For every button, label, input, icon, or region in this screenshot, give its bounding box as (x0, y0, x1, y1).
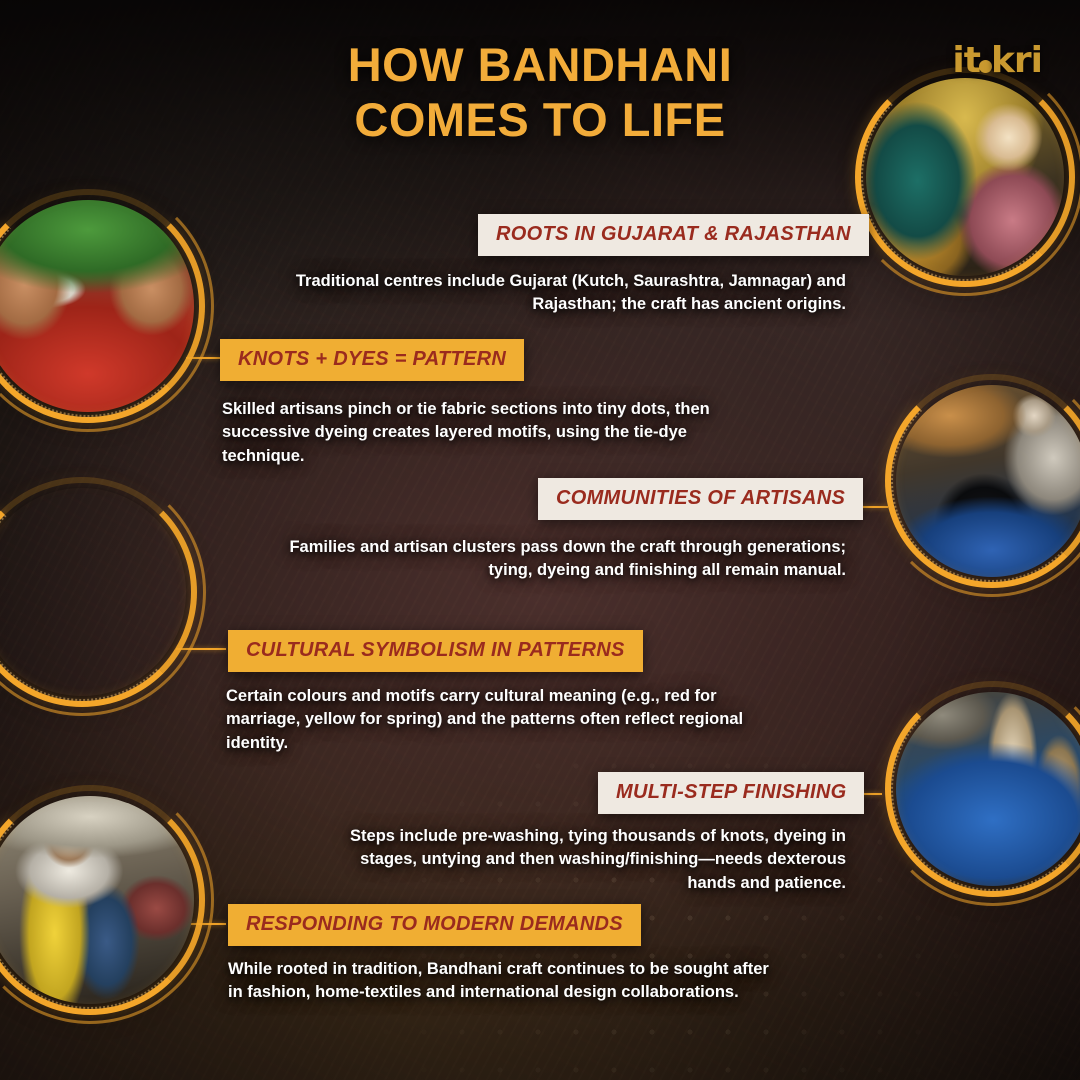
logo-text-after: kri (991, 40, 1042, 81)
banner-modern-label: RESPONDING TO MODERN DEMANDS (246, 913, 623, 935)
body-text-communities: Families and artisan clusters pass down … (246, 536, 846, 583)
body-text-knots: Skilled artisans pinch or tie fabric sec… (222, 398, 756, 468)
banner-communities-label: COMMUNITIES OF ARTISANS (556, 487, 845, 509)
banner-finishing[interactable]: MULTI-STEP FINISHING (598, 772, 864, 814)
body-text-modern: While rooted in tradition, Bandhani craf… (228, 958, 788, 1005)
banner-symbolism[interactable]: CULTURAL SYMBOLISM IN PATTERNS (228, 630, 643, 672)
banner-communities[interactable]: COMMUNITIES OF ARTISANS (538, 478, 863, 520)
body-text-roots: Traditional centres include Gujarat (Kut… (270, 270, 846, 317)
page-title-line-2: COMES TO LIFE (0, 93, 1080, 148)
page-title-line-1: HOW BANDHANI (348, 38, 733, 91)
logo-text-before: it (952, 40, 980, 81)
itokri-logo[interactable]: itkri (952, 40, 1042, 81)
photo-dyer-blue-tub-image (896, 385, 1080, 577)
banner-knots-label: KNOTS + DYES = PATTERN (238, 348, 506, 370)
banner-symbolism-label: CULTURAL SYMBOLISM IN PATTERNS (246, 639, 625, 661)
banner-roots-label: ROOTS IN GUJARAT & RAJASTHAN (496, 223, 851, 245)
photo-dye-vat-image (896, 692, 1080, 886)
banner-roots[interactable]: ROOTS IN GUJARAT & RAJASTHAN (478, 214, 869, 256)
page-title: HOW BANDHANI COMES TO LIFE (0, 38, 1080, 148)
body-text-finishing: Steps include pre-washing, tying thousan… (316, 825, 846, 895)
photo-dyer-blue-tub (896, 385, 1080, 577)
banner-modern[interactable]: RESPONDING TO MODERN DEMANDS (228, 904, 641, 946)
banner-finishing-label: MULTI-STEP FINISHING (616, 781, 846, 803)
body-text-symbolism: Certain colours and motifs carry cultura… (226, 685, 776, 755)
photo-dye-vat (896, 692, 1080, 886)
connector-line-knots (186, 357, 220, 359)
banner-knots[interactable]: KNOTS + DYES = PATTERN (220, 339, 524, 381)
connector-line-symbolism (176, 648, 226, 650)
